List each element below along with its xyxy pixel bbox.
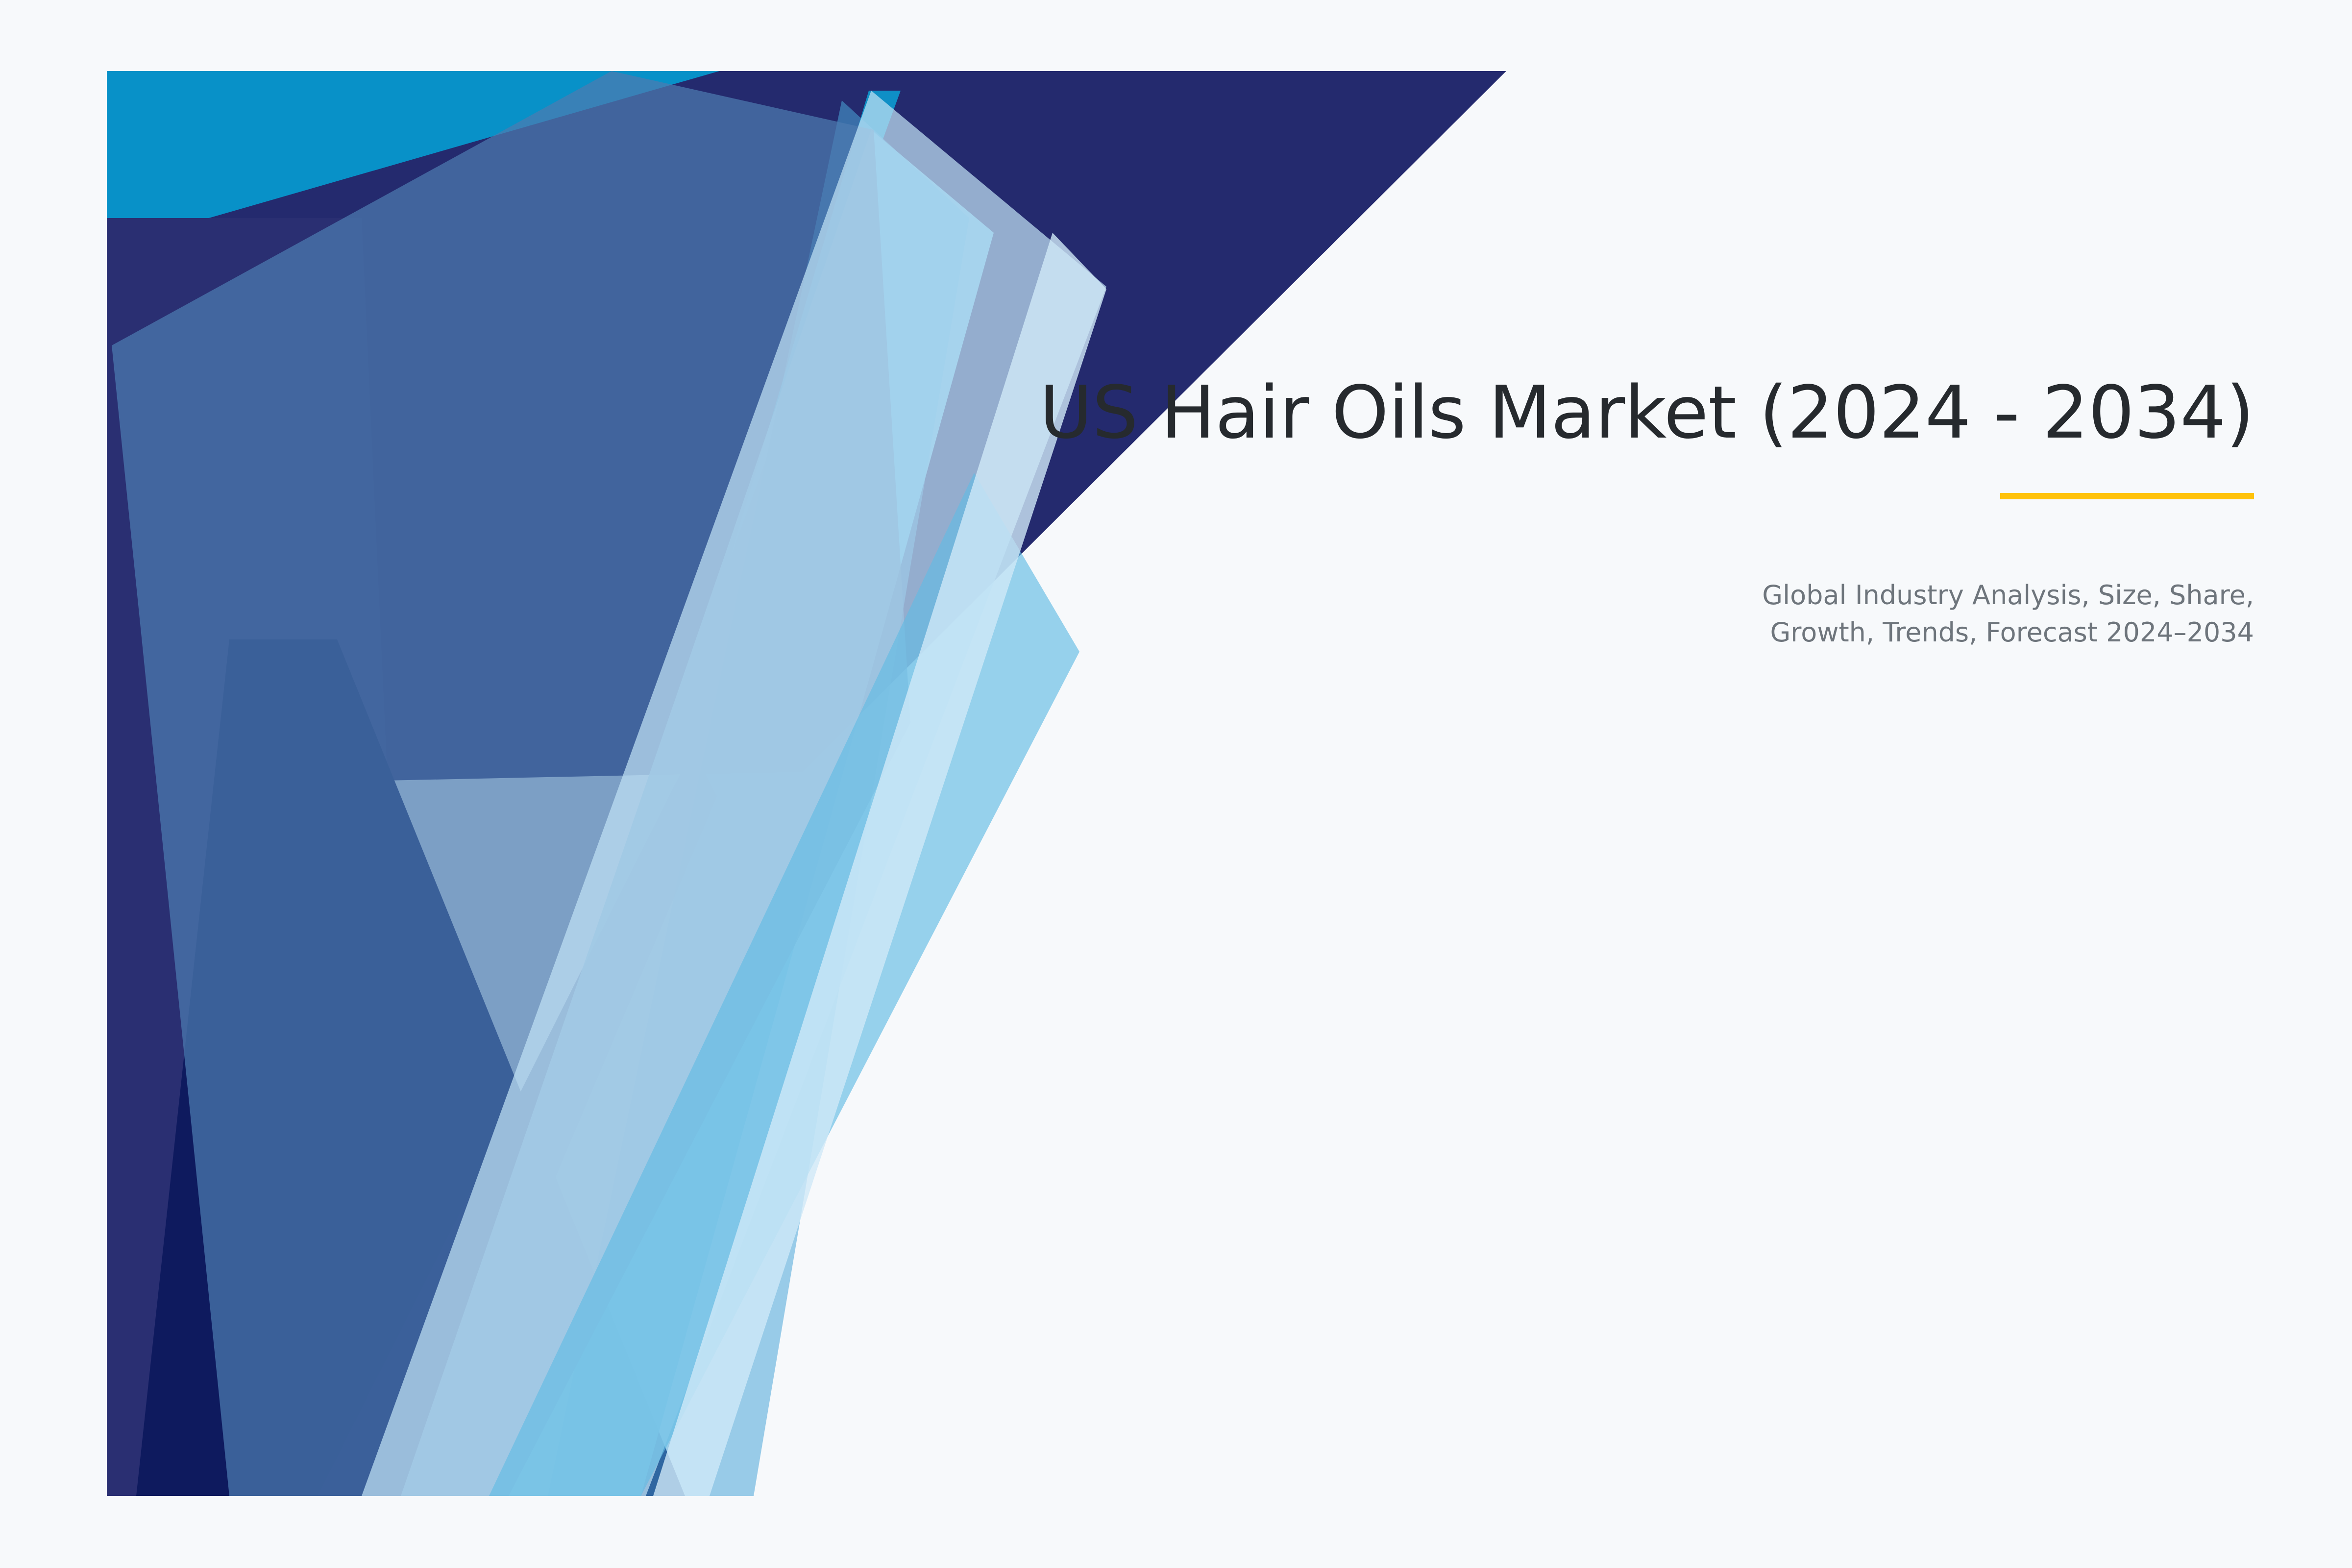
abstract-geometric-banner bbox=[107, 71, 1506, 1496]
banner-svg bbox=[107, 71, 1506, 1496]
page-subtitle: Global Industry Analysis, Size, Share, G… bbox=[931, 577, 2254, 652]
page-title: US Hair Oils Market (2024 - 2034) bbox=[931, 372, 2254, 454]
divider-wrapper bbox=[931, 493, 2254, 499]
title-text-block: US Hair Oils Market (2024 - 2034) Global… bbox=[931, 372, 2254, 652]
title-slide: US Hair Oils Market (2024 - 2034) Global… bbox=[0, 0, 2352, 1568]
gold-accent-rule bbox=[2000, 493, 2254, 499]
